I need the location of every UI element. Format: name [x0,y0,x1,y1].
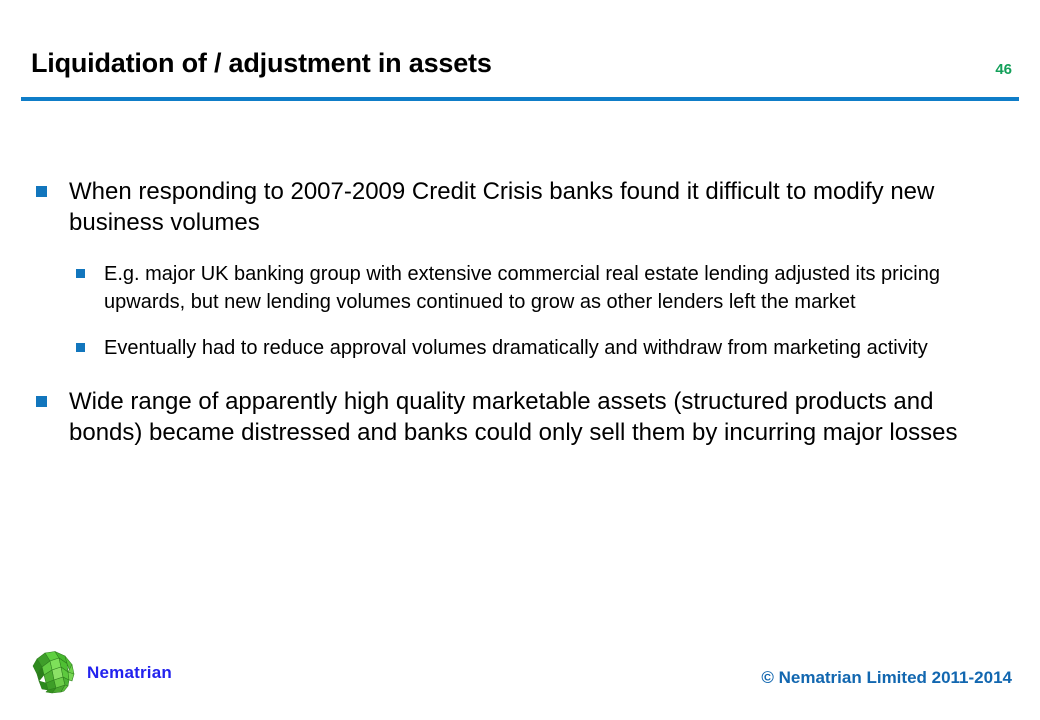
bullet-text: When responding to 2007-2009 Credit Cris… [69,176,1000,238]
bullet-item-level2: E.g. major UK banking group with extensi… [76,260,970,316]
brand-wordmark: Nematrian [87,663,172,683]
spacer [0,364,1040,386]
spacer [0,240,1040,260]
bullet-item-level1: Wide range of apparently high quality ma… [36,386,1000,448]
slide-canvas: Liquidation of / adjustment in assets 46… [0,0,1040,720]
title-divider-rule [21,97,1019,101]
bullet-text: Wide range of apparently high quality ma… [69,386,1000,448]
nematrian-polyhedron-logo-icon [28,648,78,698]
square-bullet-icon [76,343,85,352]
square-bullet-icon [76,269,85,278]
square-bullet-icon [36,396,47,407]
brand-logo-group: Nematrian [28,648,172,698]
slide-footer: Nematrian © Nematrian Limited 2011-2014 [0,628,1040,720]
copyright-notice: © Nematrian Limited 2011-2014 [761,668,1012,688]
square-bullet-icon [36,186,47,197]
bullet-item-level2: Eventually had to reduce approval volume… [76,334,970,362]
page-number: 46 [995,61,1012,78]
spacer [0,318,1040,334]
page-title: Liquidation of / adjustment in assets [31,48,492,79]
bullet-text: E.g. major UK banking group with extensi… [104,260,970,316]
bullet-text: Eventually had to reduce approval volume… [104,334,970,362]
slide-header: Liquidation of / adjustment in assets 46 [0,48,1040,104]
bullet-item-level1: When responding to 2007-2009 Credit Cris… [36,176,1000,238]
slide-body: When responding to 2007-2009 Credit Cris… [0,176,1040,450]
